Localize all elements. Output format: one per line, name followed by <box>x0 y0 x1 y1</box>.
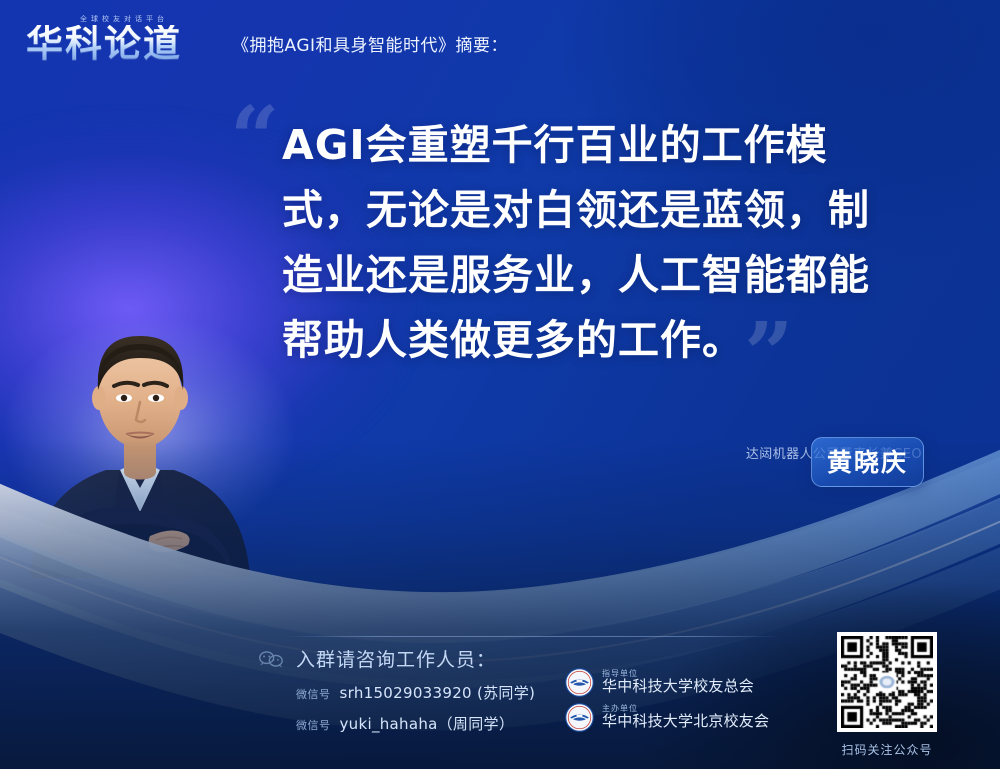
qr-section: 扫码关注公众号 <box>833 632 941 758</box>
qr-caption: 扫码关注公众号 <box>833 741 941 758</box>
wechat-label: 微信号 <box>296 686 331 702</box>
quote-open-mark: “ <box>230 96 279 182</box>
university-seal-icon <box>565 668 594 697</box>
brand-logo[interactable]: 全球校友对话平台 华科论道 <box>26 14 216 62</box>
wechat-label: 微信号 <box>296 717 331 733</box>
poster-root: 全球校友对话平台 华科论道 《拥抱AGI和具身智能时代》摘要： “ ” AGI会… <box>0 0 1000 769</box>
header: 全球校友对话平台 华科论道 《拥抱AGI和具身智能时代》摘要： <box>26 14 508 62</box>
organization-text: 指导单位 华中科技大学校友总会 <box>602 670 754 695</box>
university-seal-icon <box>565 703 594 732</box>
page-title: 《拥抱AGI和具身智能时代》摘要： <box>232 31 508 62</box>
quote-text: AGI会重塑千行百业的工作模 式，无论是对白领还是蓝领，制 造业还是服务业，人工… <box>282 113 942 373</box>
quote-line: AGI会重塑千行百业的工作模 <box>282 113 942 178</box>
footer-divider <box>286 636 780 637</box>
organization-row: 指导单位 华中科技大学校友总会 <box>565 668 769 697</box>
attribution: 达闼机器人公司董事长兼CEO 黄晓庆 <box>746 443 922 462</box>
organization-name: 华中科技大学北京校友会 <box>602 714 769 730</box>
footer-title: 入群请咨询工作人员： <box>296 645 496 672</box>
wechat-id: srh15029033920 (苏同学) <box>340 682 536 703</box>
quote-line: 造业还是服务业，人工智能都能 <box>282 243 942 308</box>
wechat-icon <box>258 650 284 668</box>
wechat-id: yuki_hahaha（周同学） <box>340 713 515 734</box>
organization-list: 指导单位 华中科技大学校友总会 主办单位 华中科技大学北京校友会 <box>565 668 769 738</box>
quote-line: 帮助人类做更多的工作。 <box>282 308 942 373</box>
quote-line: 式，无论是对白领还是蓝领，制 <box>282 178 942 243</box>
qr-canvas <box>841 636 933 728</box>
organization-name: 华中科技大学校友总会 <box>602 679 754 695</box>
organization-text: 主办单位 华中科技大学北京校友会 <box>602 705 769 730</box>
speaker-name-badge: 黄晓庆 <box>811 437 924 487</box>
logo-tagline: 全球校友对话平台 <box>32 14 216 24</box>
qr-code[interactable] <box>837 632 937 732</box>
organization-row: 主办单位 华中科技大学北京校友会 <box>565 703 769 732</box>
logo-wordmark: 华科论道 <box>26 25 216 62</box>
